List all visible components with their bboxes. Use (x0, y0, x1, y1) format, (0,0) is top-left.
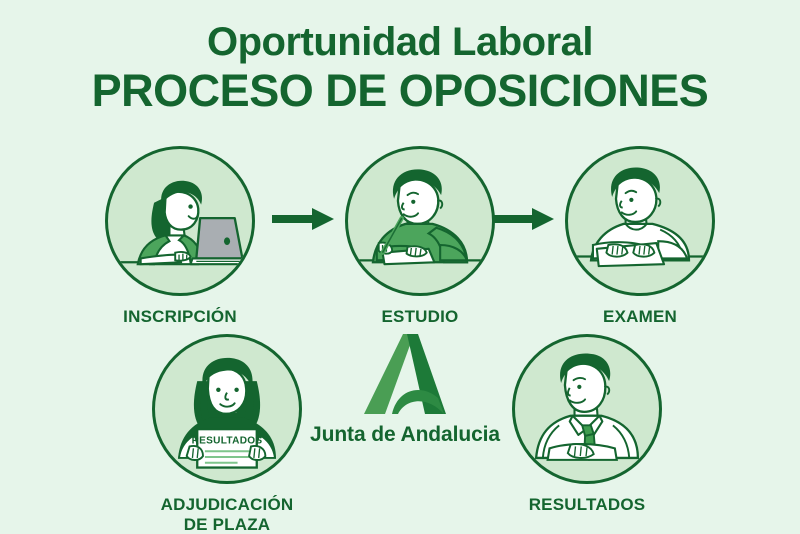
junta-de-andalucia-a-logo-icon (362, 332, 448, 416)
arrow-right-icon (272, 206, 334, 232)
woman-at-laptop-icon (108, 149, 252, 293)
step-circle-inscripcion (105, 146, 255, 296)
step-label-examen: EXAMEN (565, 307, 715, 327)
step-label-adjudicacion: ADJUDICACIÓN DE PLAZA (152, 495, 302, 534)
step-circle-resultados (512, 334, 662, 484)
step-estudio[interactable]: ESTUDIO (345, 146, 495, 327)
step-circle-estudio (345, 146, 495, 296)
infographic-canvas: Oportunidad Laboral PROCESO DE OPOSICION… (0, 0, 800, 533)
step-label-estudio: ESTUDIO (345, 307, 495, 327)
woman-holding-results-icon: RESULTADOS (155, 337, 299, 481)
man-writing-icon (348, 149, 492, 293)
logo-text: Junta de Andalucia (300, 423, 510, 447)
arrow-right-icon (492, 206, 554, 232)
step-label-inscripcion: INSCRIPCIÓN (105, 307, 255, 327)
step-inscripcion[interactable]: INSCRIPCIÓN (105, 146, 255, 327)
step-resultados[interactable]: RESULTADOS (512, 334, 662, 515)
step-circle-adjudicacion: RESULTADOS (152, 334, 302, 484)
junta-de-andalucia-logo: Junta de Andalucia (300, 332, 510, 447)
page-title: Oportunidad Laboral PROCESO DE OPOSICION… (0, 22, 800, 113)
title-line-1: Oportunidad Laboral (0, 22, 800, 62)
step-adjudicacion[interactable]: RESULTADOS ADJUDICACIÓN DE PLAZA (152, 334, 302, 534)
title-line-2: PROCESO DE OPOSICIONES (0, 68, 800, 113)
svg-text:RESULTADOS: RESULTADOS (192, 436, 263, 447)
step-label-resultados: RESULTADOS (512, 495, 662, 515)
man-taking-exam-icon (568, 149, 712, 293)
man-with-tie-icon (515, 337, 659, 481)
step-circle-examen (565, 146, 715, 296)
step-examen[interactable]: EXAMEN (565, 146, 715, 327)
